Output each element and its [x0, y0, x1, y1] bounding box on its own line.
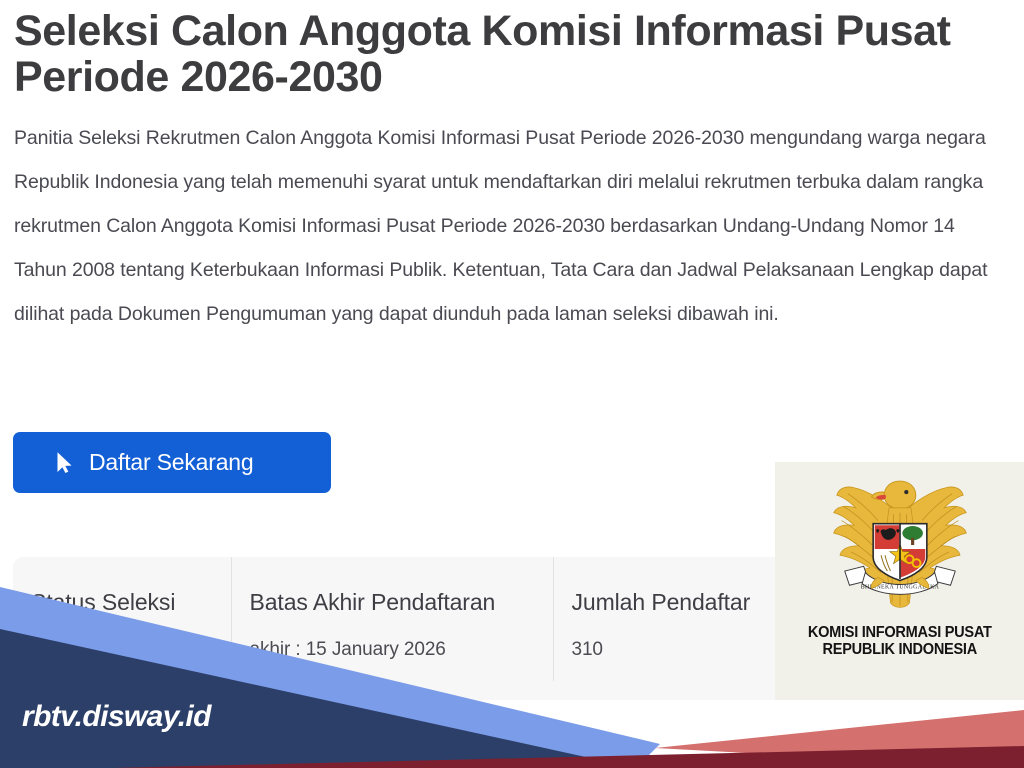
page-root: Seleksi Calon Anggota Komisi Informasi P…	[0, 0, 1024, 768]
column-header-batas-akhir-pendaftaran: Batas Akhir Pendaftaran	[231, 557, 553, 619]
page-title: Seleksi Calon Anggota Komisi Informasi P…	[14, 8, 1010, 100]
logo-caption: KOMISI INFORMASI PUSAT REPUBLIK INDONESI…	[808, 624, 992, 659]
article-body-text: Panitia Seleksi Rekrutmen Calon Anggota …	[14, 116, 1006, 336]
seleksi-status-table: Status Seleksi Batas Akhir Pendaftaran J…	[13, 557, 811, 681]
logo-caption-line1: KOMISI INFORMASI PUSAT	[808, 624, 992, 641]
maroon-diagonal-shape	[112, 746, 1024, 768]
seleksi-status-table-card: Status Seleksi Batas Akhir Pendaftaran J…	[13, 557, 811, 700]
table-header-row: Status Seleksi Batas Akhir Pendaftaran J…	[13, 557, 811, 619]
site-watermark: rbtv.disway.id	[22, 700, 211, 734]
cell-batas-akhir-pendaftaran: akhir : 15 January 2026	[231, 619, 553, 681]
cursor-arrow-icon	[56, 451, 73, 474]
daftar-sekarang-label: Daftar Sekarang	[89, 449, 253, 476]
logo-caption-line2: REPUBLIK INDONESIA	[808, 641, 992, 658]
cell-status-seleksi	[13, 619, 231, 681]
komisi-informasi-logo-panel: BHINNEKA TUNGGAL IKA KOMISI INFORMASI PU…	[775, 462, 1024, 700]
article-container: Seleksi Calon Anggota Komisi Informasi P…	[14, 8, 1010, 336]
column-header-status-seleksi: Status Seleksi	[13, 557, 231, 619]
cell-jumlah-pendaftar: 310	[553, 619, 811, 681]
garuda-pancasila-emblem-icon: BHINNEKA TUNGGAL IKA	[820, 470, 980, 620]
salmon-diagonal-shape	[655, 710, 1024, 768]
daftar-sekarang-button[interactable]: Daftar Sekarang	[13, 432, 331, 493]
column-header-jumlah-pendaftar: Jumlah Pendaftar	[553, 557, 811, 619]
table-row: akhir : 15 January 2026 310	[13, 619, 811, 681]
